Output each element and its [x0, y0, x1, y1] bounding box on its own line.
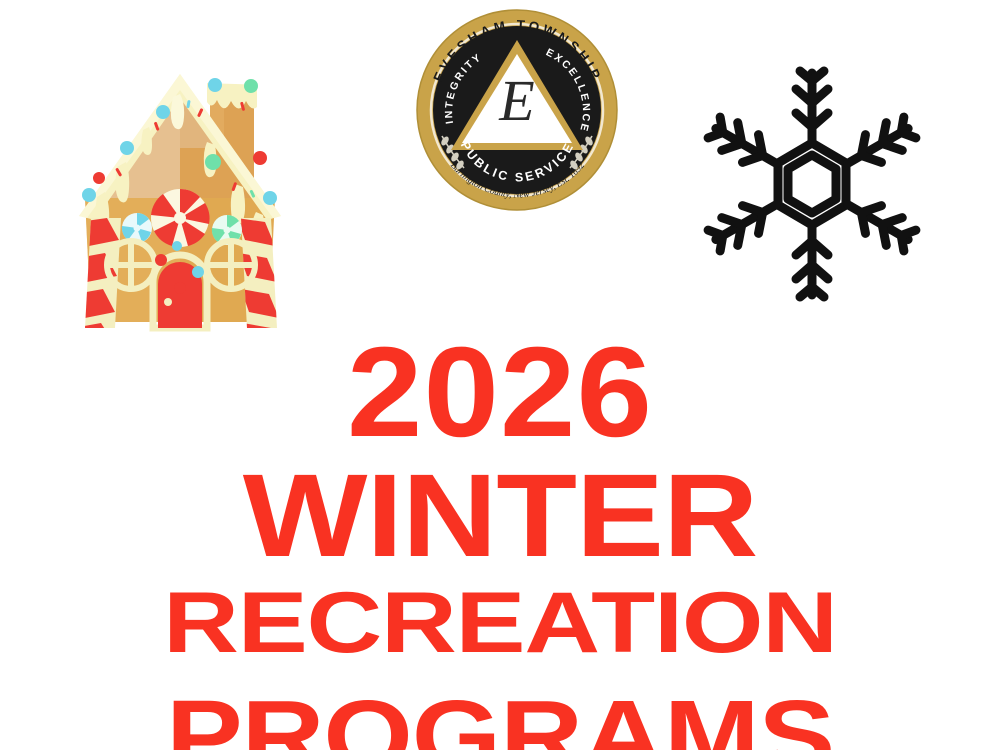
snowflake-arms [706, 71, 918, 297]
winter-programs-poster: EVESHAM TOWNSHIP Burlington County, New … [0, 0, 1000, 750]
snowflake-hexagon-inner [788, 155, 836, 213]
poster-headline: 2026 WINTER RECREATION PROGRAMS [0, 330, 1000, 750]
seal-monogram: E [498, 68, 534, 133]
house-window-right [207, 241, 255, 289]
evesham-township-seal-icon: EVESHAM TOWNSHIP Burlington County, New … [415, 8, 620, 213]
candy-cane-pillar-left [73, 218, 121, 335]
snowflake-icon [700, 55, 925, 315]
headline-season: WINTER [0, 459, 1000, 575]
headline-category: RECREATION [0, 581, 1000, 665]
headline-type: PROGRAMS [0, 687, 1000, 750]
gingerbread-house-icon [55, 50, 305, 335]
house-window-left [107, 241, 155, 289]
headline-year: 2026 [0, 330, 1000, 455]
